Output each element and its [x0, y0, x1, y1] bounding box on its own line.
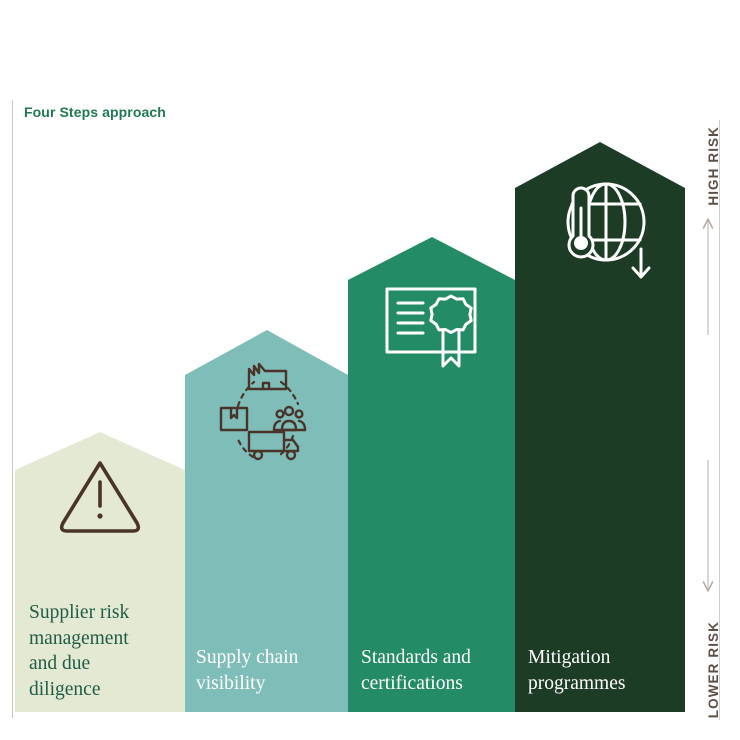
bar-label-line: Standards and	[361, 645, 511, 671]
bar-label-line: management	[29, 626, 179, 652]
bar-step-3[interactable]	[348, 237, 515, 712]
bar-label-line: certifications	[361, 671, 511, 697]
bar-label-step-3: Standards and certifications	[361, 645, 511, 696]
infographic-canvas: Four Steps approach	[0, 0, 740, 740]
bar-label-step-1: Supplier risk management and due diligen…	[29, 600, 179, 703]
axis-label-lower-risk: LOWER RISK	[706, 621, 721, 718]
risk-axis: HIGH RISK LOWER RISK	[700, 120, 740, 720]
axis-label-high-risk: HIGH RISK	[706, 126, 721, 206]
bar-label-line: Supplier risk	[29, 600, 179, 626]
bar-label-step-4: Mitigation programmes	[528, 645, 678, 696]
bar-label-line: Supply chain	[196, 645, 342, 671]
bar-label-line: and due	[29, 651, 179, 677]
bar-label-line: Mitigation	[528, 645, 678, 671]
bar-label-line: visibility	[196, 671, 342, 697]
bar-shape-4	[515, 142, 685, 712]
bar-step-4[interactable]	[515, 142, 685, 712]
bar-label-line: diligence	[29, 677, 179, 703]
bar-label-step-2: Supply chain visibility	[196, 645, 342, 696]
bar-label-line: programmes	[528, 671, 678, 697]
